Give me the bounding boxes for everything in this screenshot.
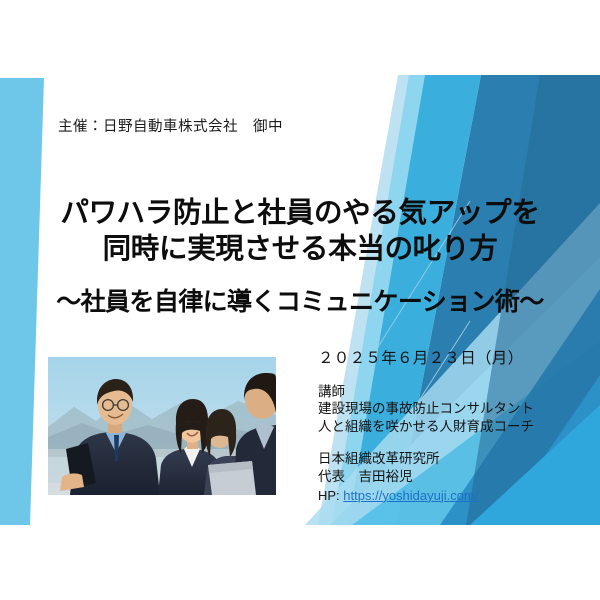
homepage-link[interactable]: https://yoshidayuji.com/	[343, 488, 478, 503]
business-people-photo-icon	[48, 357, 276, 495]
representative-name: 代表 吉田裕児	[318, 468, 588, 486]
speaker-heading: 講師	[318, 383, 588, 401]
homepage-label: HP:	[318, 488, 340, 503]
host-line: 主催：日野自動車株式会社 御中	[58, 115, 283, 136]
title-line-2: 同時に実現させる本当の叱り方	[0, 231, 600, 267]
event-date: ２０２５年６月２３日（月）	[318, 350, 588, 369]
organization-name: 日本組織改革研究所	[318, 450, 588, 468]
speaker-photo	[48, 357, 276, 495]
homepage-row: HP: https://yoshidayuji.com/	[318, 487, 588, 505]
title-line-1: パワハラ防止と社員のやる気アップを	[0, 195, 600, 231]
presentation-slide: 主催：日野自動車株式会社 御中 パワハラ防止と社員のやる気アップを 同時に実現さ…	[0, 75, 600, 525]
subtitle-line: 〜社員を自律に導くコミュニケーション術〜	[0, 282, 600, 318]
organization-group: 日本組織改革研究所 代表 吉田裕児 HP: https://yoshidayuj…	[318, 450, 588, 504]
speaker-role-1: 建設現場の事故防止コンサルタント	[318, 400, 588, 418]
speaker-role-2: 人と組織を咲かせる人財育成コーチ	[318, 418, 588, 436]
speaker-group: 講師 建設現場の事故防止コンサルタント 人と組織を咲かせる人財育成コーチ	[318, 383, 588, 436]
event-info-block: ２０２５年６月２３日（月） 講師 建設現場の事故防止コンサルタント 人と組織を咲…	[318, 350, 588, 504]
title-block: パワハラ防止と社員のやる気アップを 同時に実現させる本当の叱り方 〜社員を自律に…	[0, 195, 600, 318]
